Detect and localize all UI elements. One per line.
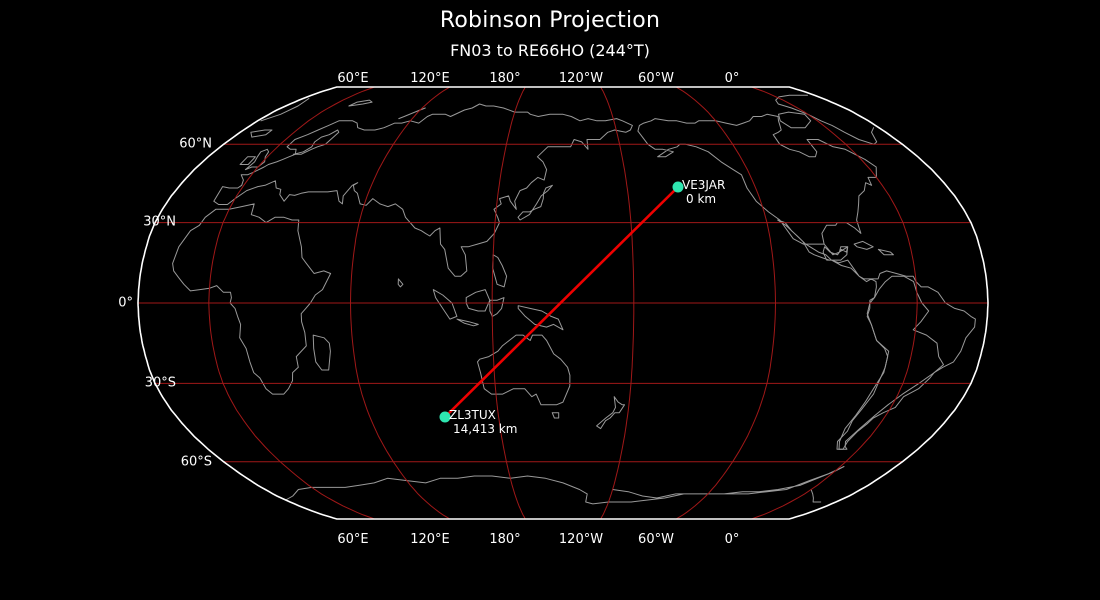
lat-tick-label: 30°N: [116, 215, 176, 230]
graticule-layer: [138, 87, 988, 519]
coastline: [313, 335, 330, 370]
coastline: [399, 108, 426, 119]
coastline: [597, 397, 625, 429]
coastline: [251, 130, 272, 137]
coastline: [638, 114, 976, 449]
coastline: [433, 290, 457, 320]
station-distance-label: 0 km: [686, 192, 716, 206]
coastline: [293, 130, 339, 154]
map-figure: Robinson Projection FN03 to RE66HO (244°…: [0, 0, 1100, 600]
lat-tick-label: 30°S: [116, 376, 176, 391]
great-circle-path: [445, 187, 678, 417]
coastline: [854, 241, 873, 249]
station-callsign-label: VE3JAR: [682, 178, 725, 192]
lon-tick-label-bottom: 120°W: [559, 532, 603, 547]
coastline: [286, 476, 821, 504]
path-line: [445, 187, 678, 417]
lat-tick-label: 60°N: [152, 137, 212, 152]
coastline: [552, 413, 559, 418]
lon-tick-label-bottom: 0°: [725, 532, 740, 547]
coastline: [878, 249, 893, 254]
coastline: [493, 255, 507, 287]
coastline: [349, 100, 372, 106]
lon-tick-label-bottom: 60°E: [337, 532, 368, 547]
coastline: [779, 112, 811, 128]
coastline: [173, 204, 331, 394]
lon-tick-label-bottom: 180°: [489, 532, 520, 547]
coastline: [839, 276, 944, 449]
lon-tick-label-top: 60°E: [337, 71, 368, 86]
station-distance-label: 14,413 km: [453, 422, 517, 436]
coastline: [466, 290, 490, 311]
coastline: [261, 95, 877, 144]
map-svg: [0, 0, 1100, 600]
coastline: [457, 319, 478, 326]
station-callsign-label: ZL3TUX: [449, 408, 496, 422]
lon-tick-label-top: 120°E: [410, 71, 450, 86]
lon-tick-label-top: 180°: [489, 71, 520, 86]
coastline: [398, 279, 403, 287]
coastlines-layer: [173, 95, 976, 504]
coastline: [518, 306, 563, 330]
lon-tick-label-top: 0°: [725, 71, 740, 86]
coastline: [214, 104, 633, 276]
map-canvas: 60°E120°E180°120°W60°W0° 60°E120°E180°12…: [0, 0, 1100, 600]
lon-tick-label-top: 120°W: [559, 71, 603, 86]
lon-tick-label-bottom: 60°W: [638, 532, 674, 547]
lat-tick-label: 0°: [73, 296, 133, 311]
lon-tick-label-top: 60°W: [638, 71, 674, 86]
coastline: [518, 185, 552, 220]
lat-tick-label: 60°S: [152, 455, 212, 470]
lon-tick-label-bottom: 120°E: [410, 532, 450, 547]
